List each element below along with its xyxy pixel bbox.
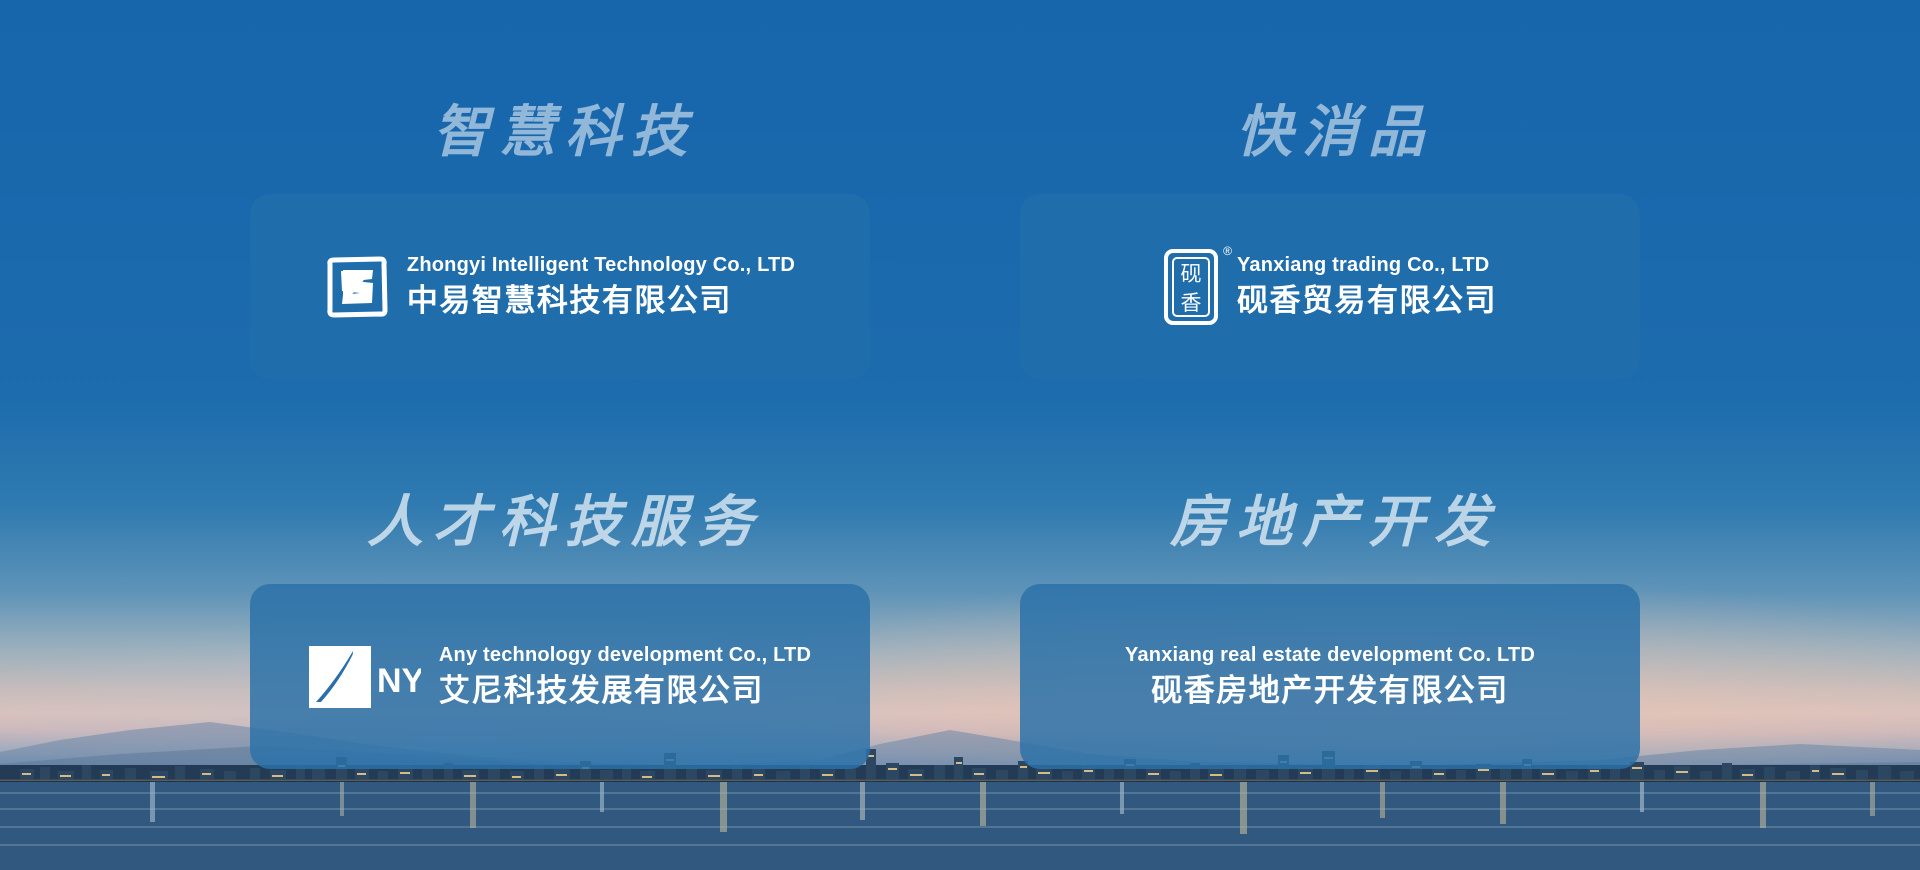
seal-char-top: 砚 bbox=[1181, 262, 1202, 286]
segment-title-real-estate: 房地产开发 bbox=[1020, 490, 1640, 554]
segment-talent-tech-service: 人才科技服务 NY Any technology bbox=[250, 490, 870, 769]
banner-stage: 智慧科技 Zhongyi Intelligent Technology Co.,… bbox=[0, 0, 1920, 870]
business-segments-grid: 智慧科技 Zhongyi Intelligent Technology Co.,… bbox=[0, 0, 1920, 870]
segment-title-smart-technology: 智慧科技 bbox=[250, 100, 870, 164]
company-name-en-zhongyi: Zhongyi Intelligent Technology Co., LTD bbox=[407, 252, 795, 279]
company-name-en-any: Any technology development Co., LTD bbox=[439, 642, 811, 669]
company-name-cn-any: 艾尼科技发展有限公司 bbox=[439, 671, 811, 711]
segment-title-talent-tech-service: 人才科技服务 bbox=[250, 490, 870, 554]
segment-title-fmcg: 快消品 bbox=[1020, 100, 1640, 164]
company-card-yanxiang-real-estate[interactable]: Yanxiang real estate development Co. LTD… bbox=[1020, 584, 1640, 769]
company-names-any: Any technology development Co., LTD 艾尼科技… bbox=[439, 642, 811, 711]
company-card-yanxiang-trading[interactable]: 砚 香 ® Yanxiang trading Co., LTD 砚香贸易有限公司 bbox=[1020, 194, 1640, 379]
company-names-yanxiang-real-estate: Yanxiang real estate development Co. LTD… bbox=[1125, 642, 1535, 711]
company-name-cn-yanxiang-trading: 砚香贸易有限公司 bbox=[1237, 281, 1497, 321]
segment-real-estate: 房地产开发 Yanxiang real estate development C… bbox=[1020, 490, 1640, 769]
any-logo-text: NY bbox=[377, 662, 421, 700]
seal-char-bottom: 香 bbox=[1181, 291, 1202, 315]
segment-fmcg: 快消品 砚 香 ® bbox=[1020, 100, 1640, 379]
any-mountain-mark-icon: NY bbox=[309, 646, 421, 708]
company-card-zhongyi[interactable]: Zhongyi Intelligent Technology Co., LTD … bbox=[250, 194, 870, 379]
company-names-zhongyi: Zhongyi Intelligent Technology Co., LTD … bbox=[407, 252, 795, 321]
company-name-cn-zhongyi: 中易智慧科技有限公司 bbox=[407, 281, 795, 321]
company-card-any[interactable]: NY Any technology development Co., LTD 艾… bbox=[250, 584, 870, 769]
company-names-yanxiang-trading: Yanxiang trading Co., LTD 砚香贸易有限公司 bbox=[1237, 252, 1497, 321]
yanxiang-seal-icon: 砚 香 ® bbox=[1163, 248, 1219, 326]
company-name-en-yanxiang-trading: Yanxiang trading Co., LTD bbox=[1237, 252, 1497, 279]
registered-trademark-icon: ® bbox=[1223, 245, 1232, 257]
company-name-cn-yanxiang-real-estate: 砚香房地产开发有限公司 bbox=[1151, 671, 1509, 711]
company-name-en-yanxiang-real-estate: Yanxiang real estate development Co. LTD bbox=[1125, 642, 1535, 669]
segment-smart-technology: 智慧科技 Zhongyi Intelligent Technology Co.,… bbox=[250, 100, 870, 379]
zhongyi-z-mark-icon bbox=[325, 255, 389, 319]
